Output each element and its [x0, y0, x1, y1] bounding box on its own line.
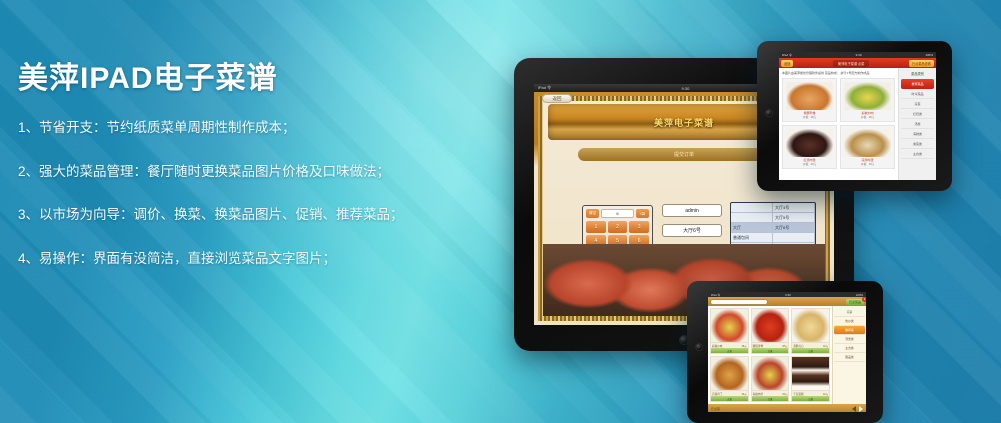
- sidebar-item[interactable]: 甜品类: [834, 353, 865, 362]
- menu-content: 彩椒炒肉 28元 点菜 糖醋里脊 38元 点菜: [708, 306, 866, 404]
- keypad-key[interactable]: 2: [608, 221, 628, 233]
- feature-bullet-3: 3、以市场为向导：调价、换菜、换菜品图片、促销、推荐菜品；: [18, 208, 448, 222]
- cart-button[interactable]: 已点菜品查看: [909, 60, 934, 67]
- table-cell-name: 大厅5号: [773, 213, 815, 222]
- cart-count-badge: 3: [862, 297, 866, 302]
- category-sidebar: 菜品类别 推荐菜品 时令菜品 凉菜 红烧类 汤类 海鲜类 素菜类 主食类: [898, 68, 936, 180]
- home-button-icon[interactable]: [695, 343, 703, 351]
- dish-card[interactable]: 千层蛋糕 22元 点菜: [791, 356, 830, 402]
- app-toolbar: 已点菜品 3: [708, 297, 866, 306]
- status-time: 9:30: [785, 293, 790, 297]
- dish-name: 千层蛋糕: [793, 392, 803, 396]
- app-title: 美萍电子菜谱 点菜: [833, 60, 869, 67]
- dish-card[interactable]: 香酥点心 18元 点菜: [791, 308, 830, 354]
- sidebar-item[interactable]: 凉菜: [834, 308, 865, 317]
- dish-card[interactable]: 彩椒炒肉 28元 点菜: [710, 308, 749, 354]
- top-right-tablet-device: iPad 令 9:30 100% 返回 美萍电子菜谱 点菜 已点菜品查看 本图片…: [757, 41, 952, 191]
- cart-button[interactable]: 已点菜品 3: [846, 299, 864, 305]
- dish-card[interactable]: 凉拌时蔬 价格：18元: [840, 125, 895, 169]
- table-cell-area: [731, 213, 773, 222]
- marketing-copy: 美萍IPAD电子菜谱 1、节省开支：节约纸质菜单周期性制作成本； 2、强大的菜品…: [18, 62, 448, 295]
- dish-price: 38元: [782, 344, 787, 348]
- dish-photo: [786, 129, 833, 157]
- table-row-selected[interactable]: 大厅 大厅6号: [731, 223, 815, 233]
- keypad-backspace-button[interactable]: ⌫: [636, 209, 649, 218]
- cart-label: 已点菜品: [849, 300, 861, 304]
- pagination-arrows[interactable]: [852, 406, 863, 412]
- sidebar-item[interactable]: 汤羹类: [834, 335, 865, 344]
- dish-grid: 本图片由美萍餐饮管理软件提供 菜品构成： 鲜汁1号配方制作成品 香酥鸭卷 价格：…: [779, 68, 898, 180]
- dish-photo: [792, 357, 829, 390]
- next-page-icon[interactable]: [859, 406, 863, 412]
- table-cell-name: 大厅4号: [773, 203, 815, 212]
- category-sidebar: 凉菜 热炒类 推荐菜 汤羹类 主食类 甜品类: [832, 306, 866, 404]
- dish-price: 22元: [823, 392, 828, 396]
- dish-price: 价格：18元: [861, 162, 874, 166]
- dish-photo: [711, 357, 748, 390]
- dish-photo: [711, 309, 748, 342]
- home-button-icon[interactable]: [765, 109, 773, 117]
- user-field[interactable]: admin: [662, 204, 722, 217]
- prev-page-icon[interactable]: [852, 406, 856, 412]
- dish-card[interactable]: 糖醋里脊 38元 点菜: [751, 308, 790, 354]
- dish-cells: 香酥鸭卷 价格：38元 彩椒炒肉 价格：28元 红烧肉煲 价格：48元: [782, 78, 895, 169]
- add-dish-button[interactable]: 点菜: [711, 348, 748, 353]
- back-button[interactable]: 返回: [781, 60, 793, 67]
- status-carrier: iPad 令: [782, 53, 792, 57]
- dish-photo: [752, 357, 789, 390]
- dish-photo: [844, 82, 891, 110]
- app-title: 美萍电子菜谱: [654, 116, 714, 129]
- sidebar-item[interactable]: 素菜类: [901, 139, 934, 149]
- dish-price: 价格：38元: [803, 115, 816, 119]
- add-dish-button[interactable]: 点菜: [752, 348, 789, 353]
- dish-name: 糖醋里脊: [753, 344, 763, 348]
- dish-price: 28元: [742, 344, 747, 348]
- bottom-right-tablet-screen: iPad 令 9:30 100% 已点菜品 3 彩椒炒肉 28元: [708, 292, 866, 412]
- promo-banner: 美萍IPAD电子菜谱 1、节省开支：节约纸质菜单周期性制作成本； 2、强大的菜品…: [0, 0, 1001, 423]
- dish-price: 价格：48元: [803, 162, 816, 166]
- sidebar-header: 菜品类别: [901, 71, 934, 76]
- add-dish-button[interactable]: 点菜: [792, 396, 829, 401]
- status-carrier: iPad 令: [711, 293, 720, 297]
- table-field[interactable]: 大厅6号: [662, 224, 722, 237]
- sidebar-item[interactable]: 主食类: [834, 344, 865, 353]
- dish-price: 价格：28元: [861, 115, 874, 119]
- bottom-right-tablet-device: iPad 令 9:30 100% 已点菜品 3 彩椒炒肉 28元: [687, 281, 883, 423]
- dish-photo: [844, 129, 891, 157]
- app-footer: 已点菜: [708, 404, 866, 412]
- dish-photo: [752, 309, 789, 342]
- status-time: 9:30: [682, 86, 690, 91]
- table-row[interactable]: 普通包间: [731, 233, 815, 243]
- table-row[interactable]: 大厅4号: [731, 203, 815, 213]
- sidebar-item[interactable]: 热炒类: [834, 317, 865, 326]
- sidebar-item[interactable]: 凉菜: [901, 99, 934, 109]
- dish-price: 32元: [742, 392, 747, 396]
- dish-card[interactable]: 青椒肉丝 26元 点菜: [751, 356, 790, 402]
- dish-name: 彩椒炒肉: [712, 344, 722, 348]
- table-cell-area: 普通包间: [731, 233, 773, 242]
- dish-card[interactable]: 宫保鸡丁 32元 点菜: [710, 356, 749, 402]
- menu-content: 本图片由美萍餐饮管理软件提供 菜品构成： 鲜汁1号配方制作成品 香酥鸭卷 价格：…: [779, 68, 936, 180]
- footer-label: 已点菜: [711, 407, 720, 411]
- sidebar-item-recommended[interactable]: 推荐菜品: [901, 79, 934, 89]
- sidebar-item-active[interactable]: 推荐菜: [834, 326, 865, 335]
- keypad-display-row: 清空 6 ⌫: [586, 209, 649, 218]
- sidebar-item[interactable]: 红烧类: [901, 109, 934, 119]
- page-title: 美萍IPAD电子菜谱: [18, 62, 448, 95]
- dish-grid: 彩椒炒肉 28元 点菜 糖醋里脊 38元 点菜: [708, 306, 832, 404]
- sidebar-item[interactable]: 主食类: [901, 149, 934, 159]
- dish-price: 18元: [823, 344, 828, 348]
- keypad-key[interactable]: 3: [629, 221, 649, 233]
- status-battery: 100%: [925, 53, 933, 57]
- sidebar-item[interactable]: 时令菜品: [901, 89, 934, 99]
- dish-name: 青椒肉丝: [753, 392, 763, 396]
- feature-bullet-1: 1、节省开支：节约纸质菜单周期性制作成本；: [18, 121, 448, 135]
- status-time: 9:30: [856, 53, 862, 57]
- table-cell-name: [773, 233, 815, 242]
- table-cell-name: 大厅6号: [773, 223, 815, 232]
- sidebar-item[interactable]: 汤类: [901, 119, 934, 129]
- dish-name: 宫保鸡丁: [712, 392, 722, 396]
- table-row[interactable]: 大厅5号: [731, 213, 815, 223]
- dish-price: 26元: [782, 392, 787, 396]
- sidebar-item[interactable]: 海鲜类: [901, 129, 934, 139]
- dish-card[interactable]: 红烧肉煲 价格：48元: [782, 125, 837, 169]
- table-cell-area: [731, 203, 773, 212]
- top-right-tablet-screen: iPad 令 9:30 100% 返回 美萍电子菜谱 点菜 已点菜品查看 本图片…: [779, 52, 936, 180]
- search-input[interactable]: [710, 299, 768, 305]
- keypad-display: 6: [601, 209, 634, 218]
- dish-card[interactable]: 彩椒炒肉 价格：28元: [840, 78, 895, 122]
- dish-photo: [786, 82, 833, 110]
- dish-photo: [792, 309, 829, 342]
- table-cell-area: 大厅: [731, 223, 773, 232]
- feature-bullet-2: 2、强大的菜品管理：餐厅随时更换菜品图片价格及口味做法；: [18, 165, 448, 179]
- dish-name: 香酥点心: [793, 344, 803, 348]
- feature-bullet-4: 4、易操作：界面有没简洁，直接浏览菜品文字图片；: [18, 252, 448, 266]
- keypad-clear-button[interactable]: 清空: [586, 209, 599, 218]
- keypad-key[interactable]: 1: [586, 221, 606, 233]
- status-battery: 100%: [856, 293, 863, 297]
- app-toolbar: 返回 美萍电子菜谱 点菜 已点菜品查看: [779, 58, 936, 68]
- back-button[interactable]: 返回: [542, 94, 572, 103]
- add-dish-button[interactable]: 点菜: [711, 396, 748, 401]
- add-dish-button[interactable]: 点菜: [752, 396, 789, 401]
- status-carrier: iPad 令: [538, 85, 551, 91]
- dish-card[interactable]: 香酥鸭卷 价格：38元: [782, 78, 837, 122]
- dish-note: 本图片由美萍餐饮管理软件提供 菜品构成： 鲜汁1号配方制作成品: [782, 71, 895, 76]
- add-dish-button[interactable]: 点菜: [792, 348, 829, 353]
